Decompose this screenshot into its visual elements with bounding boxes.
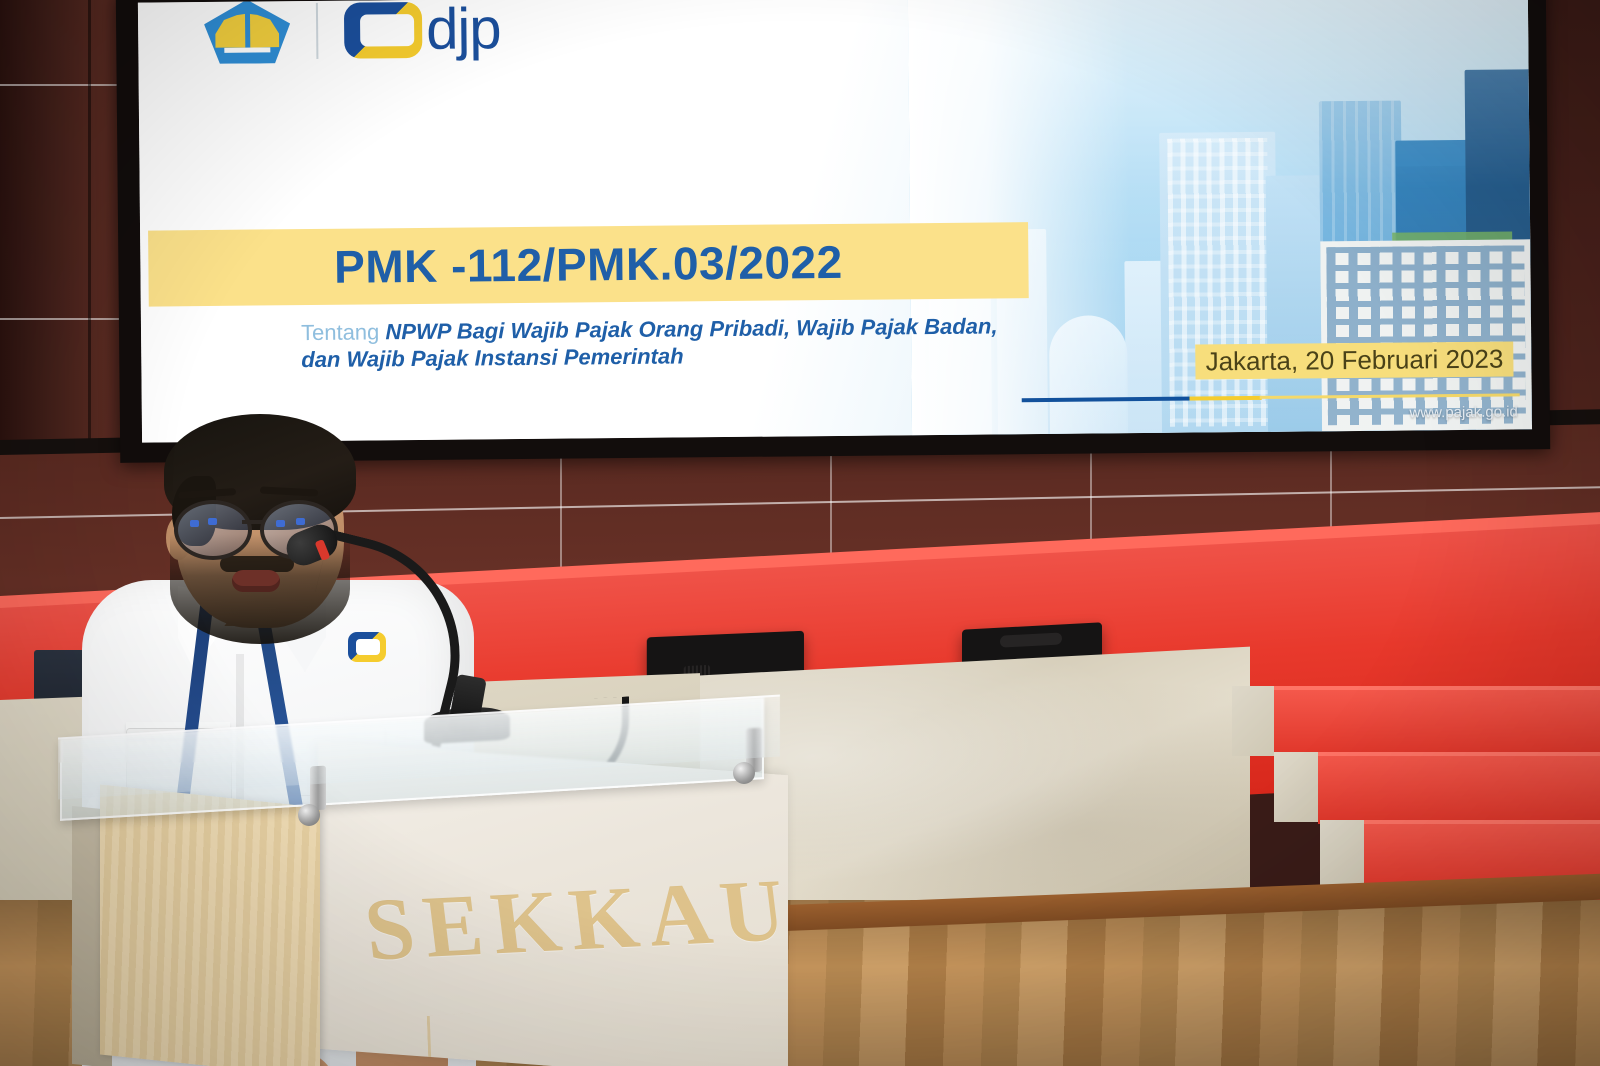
djp-mark-icon <box>344 2 423 59</box>
djp-wordmark: djp <box>426 0 501 59</box>
podium-wood-panel <box>100 784 320 1066</box>
podium-brand-text: SEKKAU <box>359 861 768 982</box>
slide-website: www.pajak.go.id <box>1409 403 1518 421</box>
djp-logo: djp <box>344 0 501 59</box>
projection-screen-frame: djp PMK -112/PMK.03/2022 Tentang NPWP Ba… <box>116 0 1550 463</box>
kemenkeu-logo <box>204 0 291 64</box>
slide-logos: djp <box>204 0 501 64</box>
slide-title: PMK -112/PMK.03/2022 <box>148 222 1029 306</box>
podium-emblem <box>427 999 683 1066</box>
presentation-slide: djp PMK -112/PMK.03/2022 Tentang NPWP Ba… <box>138 0 1532 443</box>
podium-bolt <box>733 762 755 784</box>
logo-divider <box>316 3 319 59</box>
podium-bolt <box>298 804 320 826</box>
slide-date-tag: Jakarta, 20 Februari 2023 <box>1195 341 1513 379</box>
presenter-mouth <box>232 570 280 592</box>
projection-screen: djp PMK -112/PMK.03/2022 Tentang NPWP Ba… <box>138 0 1532 443</box>
slide-subtitle: Tentang NPWP Bagi Wajib Pajak Orang Prib… <box>301 312 1001 373</box>
slide-subtitle-bold: NPWP Bagi Wajib Pajak Orang Pribadi, Waj… <box>301 313 997 372</box>
photo-scene: djp PMK -112/PMK.03/2022 Tentang NPWP Ba… <box>0 0 1600 1066</box>
slide-subtitle-lead: Tentang <box>301 319 386 345</box>
